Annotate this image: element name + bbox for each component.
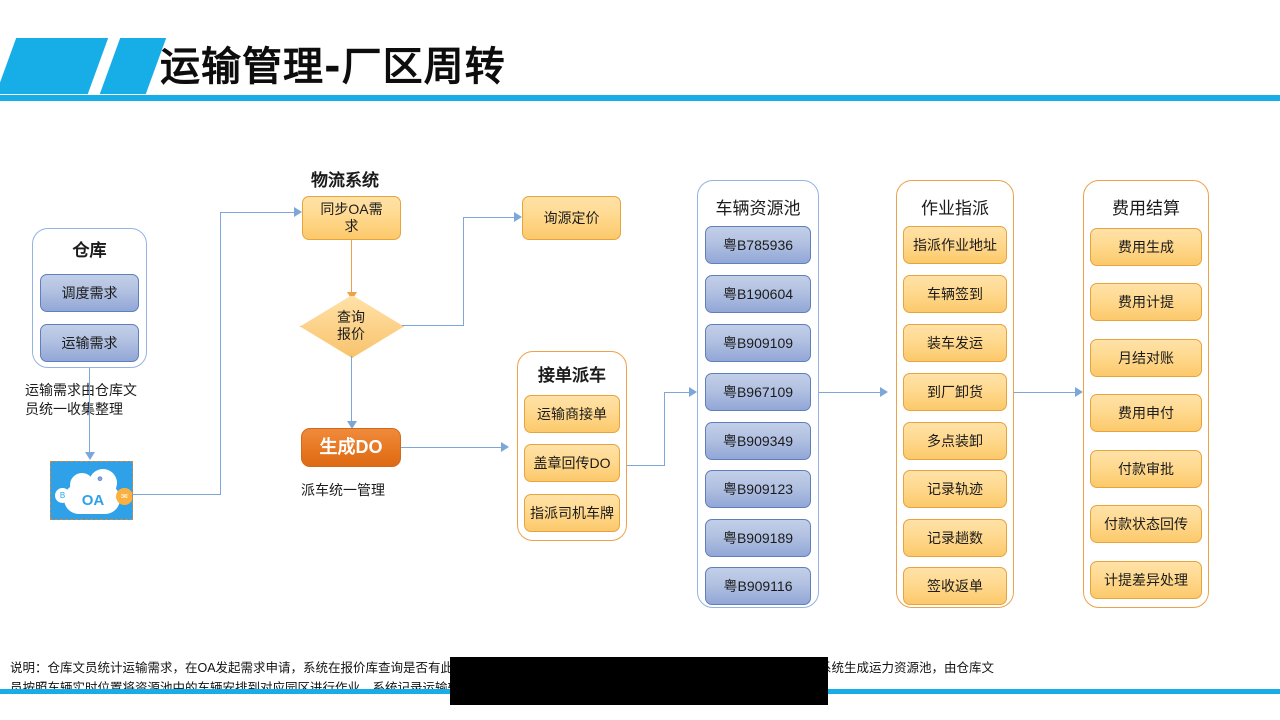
connector-decision-to-pricing-arrow bbox=[514, 212, 522, 222]
generate-do-caption: 派车统一管理 bbox=[301, 481, 385, 500]
header-divider bbox=[0, 95, 1280, 101]
connector-generate-do-to-dispatch-arrow bbox=[501, 442, 509, 452]
sync-node-line1: 同步OA需 bbox=[320, 201, 382, 218]
oa-label: OA bbox=[69, 492, 117, 509]
connector-sync-to-decision bbox=[351, 240, 352, 293]
job-item-assign-address[interactable]: 指派作业地址 bbox=[903, 226, 1007, 264]
vehicle-pool-title: 车辆资源池 bbox=[698, 194, 818, 219]
pricing-inquiry-node[interactable]: 询源定价 bbox=[522, 196, 621, 240]
header-parallelogram-small bbox=[100, 38, 166, 94]
connector-oa-to-sync bbox=[220, 212, 295, 213]
oa-cloud-icon[interactable]: OA B ☻ ✉ bbox=[50, 461, 133, 520]
fee-item-payment-approval[interactable]: 付款审批 bbox=[1090, 450, 1202, 488]
connector-decision-right bbox=[402, 325, 464, 326]
connector-decision-to-pricing bbox=[463, 217, 515, 218]
oa-badge-mail-icon: ✉ bbox=[116, 488, 133, 505]
connector-generate-do-to-dispatch bbox=[401, 447, 502, 448]
fee-item-accrual-variance[interactable]: 计提差异处理 bbox=[1090, 561, 1202, 599]
warehouse-item-transport-demand[interactable]: 运输需求 bbox=[40, 324, 139, 362]
fee-item-payment-application[interactable]: 费用申付 bbox=[1090, 394, 1202, 432]
connector-oa-right bbox=[131, 494, 221, 495]
warehouse-title: 仓库 bbox=[33, 236, 146, 261]
warehouse-caption: 运输需求由仓库文 员统一收集整理 bbox=[25, 381, 185, 420]
vehicle-plate-5[interactable]: 粤B909349 bbox=[705, 422, 811, 460]
warehouse-item-scheduling-demand[interactable]: 调度需求 bbox=[40, 274, 139, 312]
page-title: 运输管理-厂区周转 bbox=[160, 34, 506, 92]
fee-item-monthly-reconciliation[interactable]: 月结对账 bbox=[1090, 339, 1202, 377]
vehicle-plate-7[interactable]: 粤B909189 bbox=[705, 519, 811, 557]
vehicle-plate-2[interactable]: 粤B190604 bbox=[705, 275, 811, 313]
connector-decision-to-generate-do bbox=[351, 356, 352, 422]
job-item-loading-dispatch[interactable]: 装车发运 bbox=[903, 324, 1007, 362]
slide-canvas: 运输管理-厂区周转 仓库 调度需求 运输需求 运输需求由仓库文 员统一收集整理 … bbox=[0, 0, 1280, 720]
job-assignment-title: 作业指派 bbox=[897, 194, 1013, 219]
fee-settlement-title: 费用结算 bbox=[1084, 194, 1208, 219]
dispatch-item-carrier-accept[interactable]: 运输商接单 bbox=[524, 395, 620, 433]
dispatch-item-assign-driver-plate[interactable]: 指派司机车牌 bbox=[524, 494, 620, 532]
decision-label-line2: 报价 bbox=[337, 326, 365, 342]
job-item-multipoint-loading[interactable]: 多点装卸 bbox=[903, 422, 1007, 460]
job-item-record-track[interactable]: 记录轨迹 bbox=[903, 470, 1007, 508]
connector-dispatch-to-pool-arrow bbox=[689, 387, 697, 397]
connector-dispatch-right bbox=[627, 465, 665, 466]
connector-warehouse-to-oa-arrow bbox=[85, 452, 95, 460]
job-item-record-trips[interactable]: 记录趟数 bbox=[903, 519, 1007, 557]
header-decoration bbox=[0, 38, 160, 94]
logistics-system-label: 物流系统 bbox=[311, 166, 379, 191]
decision-query-quote[interactable]: 查询 报价 bbox=[300, 295, 402, 356]
fee-item-fee-generation[interactable]: 费用生成 bbox=[1090, 228, 1202, 266]
vehicle-plate-1[interactable]: 粤B785936 bbox=[705, 226, 811, 264]
dispatch-item-stamped-do[interactable]: 盖章回传DO bbox=[524, 444, 620, 482]
connector-pool-to-assignment bbox=[819, 392, 881, 393]
job-item-vehicle-checkin[interactable]: 车辆签到 bbox=[903, 275, 1007, 313]
connector-dispatch-up bbox=[664, 392, 665, 466]
vehicle-plate-3[interactable]: 粤B909109 bbox=[705, 324, 811, 362]
job-item-signed-return[interactable]: 签收返单 bbox=[903, 567, 1007, 605]
vehicle-plate-6[interactable]: 粤B909123 bbox=[705, 470, 811, 508]
vehicle-plate-8[interactable]: 粤B909116 bbox=[705, 567, 811, 605]
vehicle-plate-4[interactable]: 粤B967109 bbox=[705, 373, 811, 411]
decision-label-line1: 查询 bbox=[337, 309, 365, 325]
dispatch-title: 接单派车 bbox=[518, 361, 626, 386]
oa-badge-user-icon: ☻ bbox=[92, 470, 108, 486]
logistics-sync-oa-demand-node[interactable]: 同步OA需 求 bbox=[302, 196, 401, 240]
connector-warehouse-to-oa bbox=[89, 368, 90, 453]
connector-assignment-to-fee bbox=[1014, 392, 1076, 393]
connector-oa-up bbox=[220, 212, 221, 495]
oa-badge-document-icon: B bbox=[55, 488, 70, 503]
fee-item-fee-accrual[interactable]: 费用计提 bbox=[1090, 283, 1202, 321]
header-parallelogram-large bbox=[0, 38, 108, 94]
warehouse-caption-line1: 运输需求由仓库文 bbox=[25, 381, 185, 400]
connector-decision-up bbox=[463, 217, 464, 326]
redaction-overlay bbox=[450, 657, 828, 705]
generate-do-node[interactable]: 生成DO bbox=[301, 428, 401, 467]
connector-assignment-to-fee-arrow bbox=[1075, 387, 1083, 397]
connector-dispatch-to-pool bbox=[664, 392, 690, 393]
connector-pool-to-assignment-arrow bbox=[880, 387, 888, 397]
warehouse-caption-line2: 员统一收集整理 bbox=[25, 400, 185, 419]
job-item-arrive-unload[interactable]: 到厂卸货 bbox=[903, 373, 1007, 411]
fee-item-payment-status-feedback[interactable]: 付款状态回传 bbox=[1090, 505, 1202, 543]
sync-node-line2: 求 bbox=[345, 218, 359, 235]
connector-oa-to-sync-arrow bbox=[294, 207, 302, 217]
decision-label: 查询 报价 bbox=[300, 295, 402, 356]
